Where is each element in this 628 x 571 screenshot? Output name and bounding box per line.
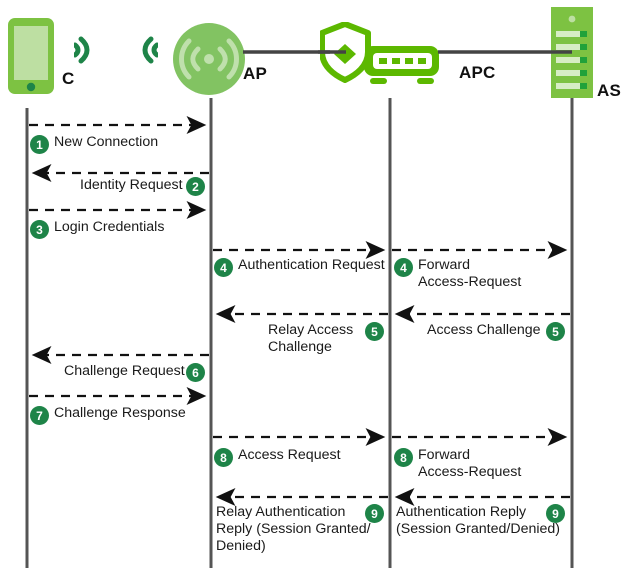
message-label-9b: Authentication Reply (Session Granted/De… — [396, 504, 560, 538]
message-label-7: Challenge Response — [54, 405, 186, 422]
message-label-5a: Relay Access Challenge — [268, 322, 353, 356]
message-label-6: Challenge Request — [64, 363, 185, 380]
step-badge-6: 6 — [186, 363, 205, 382]
step-badge-8b: 8 — [394, 448, 413, 467]
step-badge-8a: 8 — [214, 448, 233, 467]
step-badge-5a: 5 — [365, 322, 384, 341]
step-badge-4a: 4 — [214, 258, 233, 277]
actor-label-client: C — [62, 69, 74, 89]
step-badge-7: 7 — [30, 406, 49, 425]
message-label-4b: Forward Access-Request — [418, 257, 521, 291]
actor-label-ap: AP — [243, 64, 267, 84]
step-badge-1: 1 — [30, 135, 49, 154]
step-badge-5b: 5 — [546, 322, 565, 341]
message-label-8a: Access Request — [238, 447, 341, 464]
step-badge-2: 2 — [186, 177, 205, 196]
message-label-5b: Access Challenge — [427, 322, 541, 339]
message-label-1: New Connection — [54, 134, 158, 151]
diagram-lines-layer — [0, 0, 628, 571]
actor-label-apc: APC — [459, 63, 496, 83]
step-badge-4b: 4 — [394, 258, 413, 277]
sequence-diagram-canvas: C AP APC AS 1 New Connection 2 Identity … — [0, 0, 628, 571]
message-label-2: Identity Request — [80, 177, 183, 194]
message-label-9a: Relay Authentication Reply (Session Gran… — [216, 504, 371, 555]
message-label-4a: Authentication Request — [238, 257, 385, 274]
message-label-8b: Forward Access-Request — [418, 447, 521, 481]
message-label-3: Login Credentials — [54, 219, 164, 236]
actor-label-as: AS — [597, 81, 621, 101]
step-badge-3: 3 — [30, 220, 49, 239]
